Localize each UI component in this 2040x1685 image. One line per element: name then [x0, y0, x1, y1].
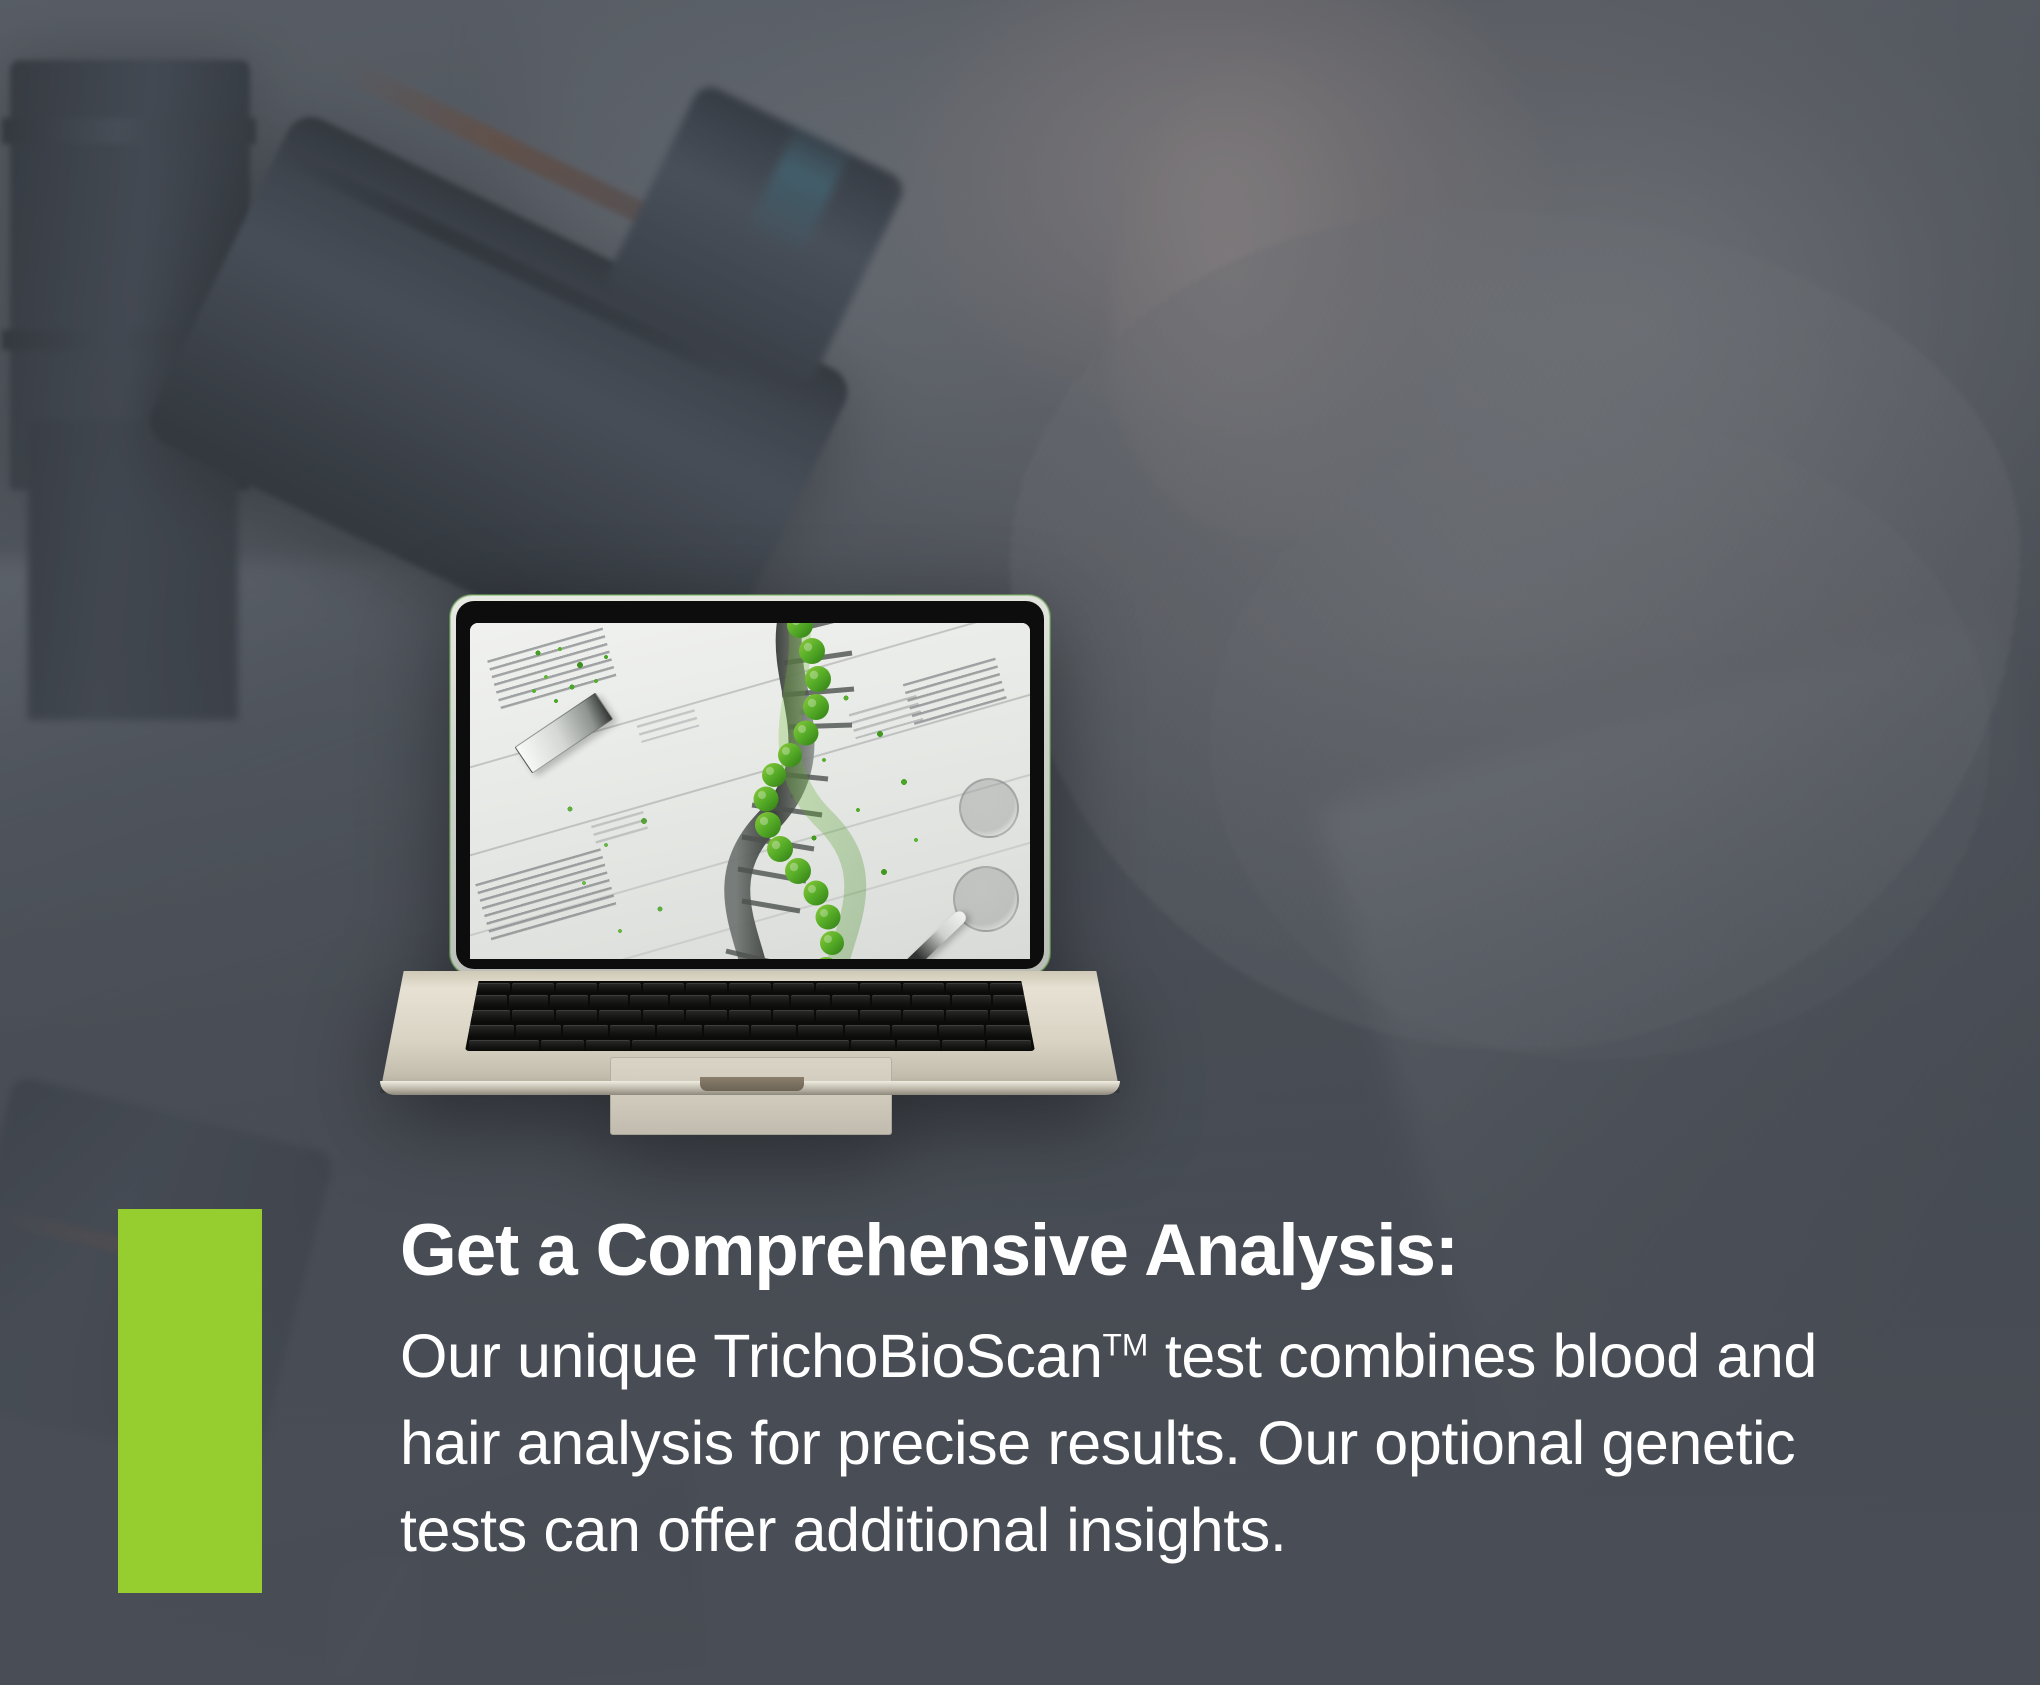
trademark-symbol: TM: [1102, 1327, 1148, 1363]
key: [670, 995, 708, 1008]
key: [469, 1040, 539, 1051]
key: [586, 1040, 629, 1051]
dna-helix-icon: [616, 623, 916, 959]
key: [990, 1010, 1031, 1023]
key: [657, 1025, 702, 1038]
key: [686, 1010, 727, 1023]
keyboard-row: [465, 983, 1035, 993]
key: [512, 983, 553, 993]
key: [892, 1025, 937, 1038]
key: [509, 995, 547, 1008]
key: [469, 1025, 514, 1038]
key: [897, 1040, 940, 1051]
key: [704, 1025, 749, 1038]
key: [939, 1025, 984, 1038]
key: [798, 1025, 843, 1038]
key: [912, 995, 950, 1008]
key: [946, 1010, 987, 1023]
key: [563, 1025, 608, 1038]
key: [872, 995, 910, 1008]
key: [952, 995, 990, 1008]
key: [987, 1040, 1030, 1051]
key: [751, 1025, 796, 1038]
key: [541, 1040, 584, 1051]
laptop-trackpad: [610, 1057, 892, 1135]
keyboard-row: [465, 1010, 1035, 1023]
copy-block: Get a Comprehensive Analysis: Our unique…: [400, 1212, 1870, 1573]
body-paragraph: Our unique TrichoBioScanTM test combines…: [400, 1313, 1870, 1573]
keyboard-row: [465, 995, 1035, 1008]
key: [903, 1010, 944, 1023]
key: [599, 1010, 640, 1023]
keyboard-row: [465, 1025, 1035, 1038]
key-space: [632, 1040, 849, 1051]
key: [469, 1010, 510, 1023]
key: [751, 995, 789, 1008]
key: [711, 995, 749, 1008]
key: [729, 1010, 770, 1023]
key: [942, 1040, 985, 1051]
key: [556, 983, 597, 993]
body-text-prefix: Our unique TrichoBioScan: [400, 1322, 1102, 1390]
laptop-front-notch: [700, 1077, 804, 1091]
key: [903, 983, 944, 993]
key: [986, 1025, 1031, 1038]
key: [599, 983, 640, 993]
key: [832, 995, 870, 1008]
laptop-keyboard: [465, 981, 1035, 1051]
key: [610, 1025, 655, 1038]
key: [816, 1010, 857, 1023]
key: [851, 1040, 894, 1051]
key: [630, 995, 668, 1008]
key: [590, 995, 628, 1008]
key: [773, 1010, 814, 1023]
accent-bar: [118, 1209, 262, 1593]
keyboard-row: [465, 1040, 1035, 1051]
page-title: Get a Comprehensive Analysis:: [400, 1212, 1870, 1289]
document-seal-stamp: [959, 778, 1019, 838]
key: [860, 1010, 901, 1023]
key: [791, 995, 829, 1008]
laptop-mockup: [380, 595, 1120, 1155]
key: [643, 1010, 684, 1023]
laptop-screen: [470, 623, 1030, 959]
key: [816, 983, 857, 993]
key: [686, 983, 727, 993]
key: [845, 1025, 890, 1038]
key: [512, 1010, 553, 1023]
key: [946, 983, 987, 993]
key: [860, 983, 901, 993]
promo-canvas: Get a Comprehensive Analysis: Our unique…: [0, 0, 2040, 1685]
key: [773, 983, 814, 993]
key: [643, 983, 684, 993]
key: [516, 1025, 561, 1038]
key: [550, 995, 588, 1008]
key: [729, 983, 770, 993]
key: [556, 1010, 597, 1023]
